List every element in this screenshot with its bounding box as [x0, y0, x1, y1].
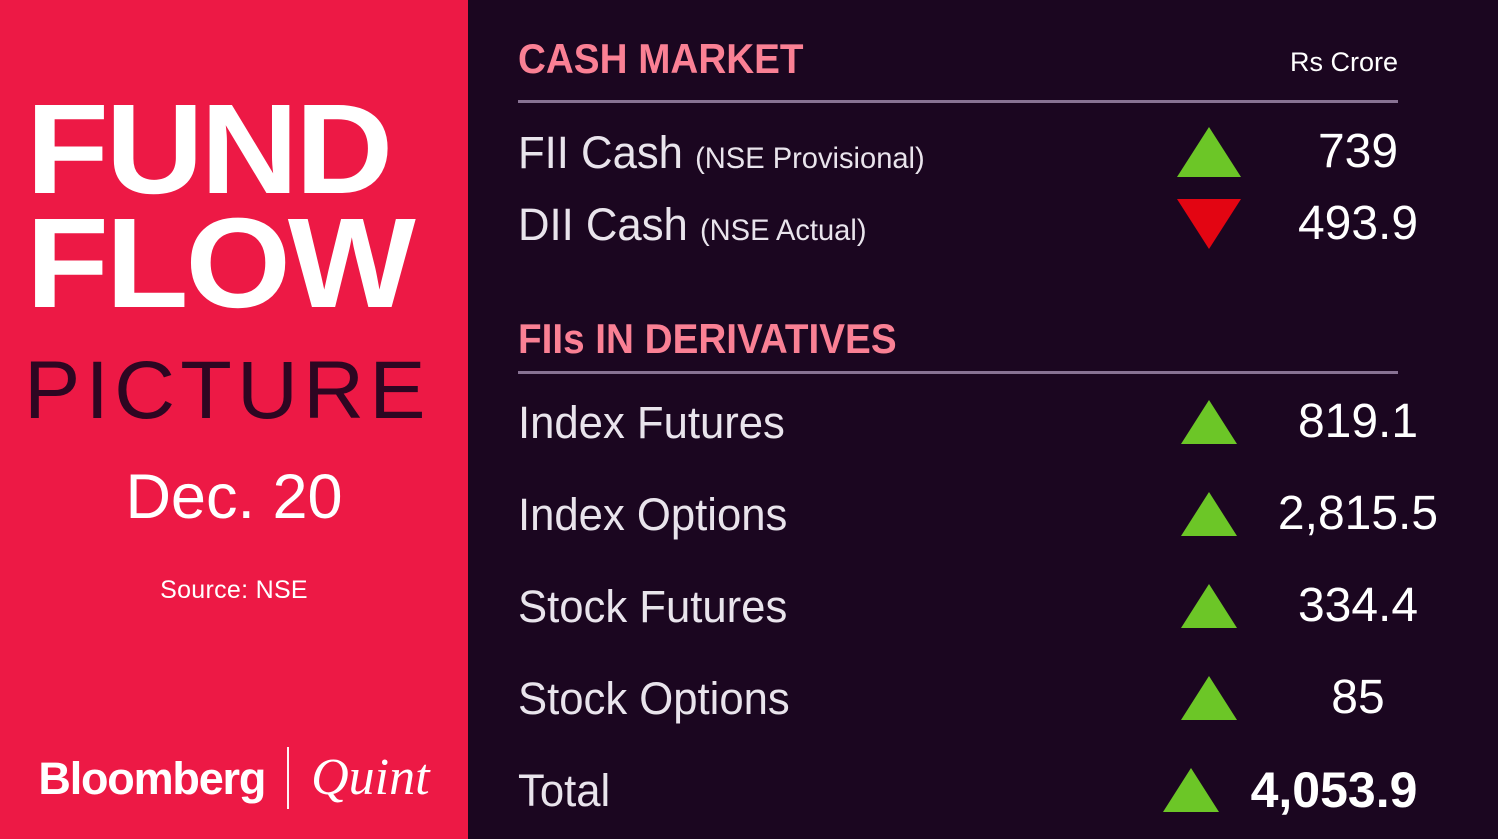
bloombergquint-logo: Bloomberg Quint	[0, 747, 468, 809]
triangle-up-icon	[1163, 768, 1219, 812]
row-label-total: Total	[518, 768, 610, 813]
section-title-derivatives: FIIs IN DERIVATIVES	[518, 318, 897, 360]
row-qualifier-fii-cash: (NSE Provisional)	[695, 142, 925, 175]
unit-label: Rs Crore	[1290, 49, 1398, 80]
row-value-index-futures: 819.1	[1258, 398, 1458, 446]
table-row: Index Futures 819.1	[518, 394, 1398, 450]
direction-cell	[1166, 492, 1252, 536]
section-header-cash-market: CASH MARKET Rs Crore	[518, 38, 1398, 80]
row-label-stock-options: Stock Options	[518, 676, 790, 721]
row-label-stock-futures: Stock Futures	[518, 584, 787, 629]
section-rule-cash-market	[518, 100, 1398, 103]
row-value-stock-options: 85	[1258, 674, 1458, 722]
triangle-down-icon	[1177, 199, 1241, 249]
logo-bloomberg-text: Bloomberg	[38, 756, 265, 801]
table-row: DII Cash (NSE Actual) 493.9	[518, 196, 1398, 252]
direction-cell	[1166, 199, 1252, 249]
table-row: Index Options 2,815.5	[518, 486, 1398, 542]
brand-title-line-3: PICTURE	[24, 350, 431, 432]
section-title-cash-market: CASH MARKET	[518, 38, 804, 80]
brand-panel: FUND FLOW PICTURE Dec. 20 Source: NSE Bl…	[0, 0, 468, 839]
row-value-total: 4,053.9	[1234, 765, 1434, 815]
row-label-index-futures: Index Futures	[518, 400, 785, 445]
triangle-up-icon	[1181, 584, 1237, 628]
fund-flow-infographic: FUND FLOW PICTURE Dec. 20 Source: NSE Bl…	[0, 0, 1498, 839]
row-value-index-options: 2,815.5	[1258, 490, 1458, 538]
data-source-label: Source: NSE	[0, 576, 468, 605]
section-header-derivatives: FIIs IN DERIVATIVES	[518, 318, 1398, 360]
row-qualifier-dii-cash: (NSE Actual)	[700, 214, 867, 247]
brand-title-line-1: FUND	[26, 96, 471, 204]
data-panel: CASH MARKET Rs Crore FII Cash (NSE Provi…	[468, 0, 1498, 839]
table-row: Stock Futures 334.4	[518, 578, 1398, 634]
triangle-up-icon	[1177, 127, 1241, 177]
direction-cell	[1148, 768, 1234, 812]
table-row-total: Total 4,053.9	[518, 762, 1398, 818]
row-value-stock-futures: 334.4	[1258, 582, 1458, 630]
triangle-up-icon	[1181, 492, 1237, 536]
logo-divider	[287, 747, 289, 809]
direction-cell	[1166, 127, 1252, 177]
row-value-dii-cash: 493.9	[1258, 200, 1458, 248]
section-rule-derivatives	[518, 371, 1398, 374]
report-date: Dec. 20	[0, 466, 468, 529]
brand-title-block: FUND FLOW	[26, 96, 446, 317]
row-value-fii-cash: 739	[1258, 128, 1458, 176]
triangle-up-icon	[1181, 676, 1237, 720]
logo-quint-text: Quint	[311, 752, 429, 804]
table-row: FII Cash (NSE Provisional) 739	[518, 124, 1398, 180]
table-row: Stock Options 85	[518, 670, 1398, 726]
brand-title-line-2: FLOW	[26, 210, 471, 318]
direction-cell	[1166, 676, 1252, 720]
row-label-fii-cash: FII Cash (NSE Provisional)	[518, 130, 925, 175]
direction-cell	[1166, 584, 1252, 628]
direction-cell	[1166, 400, 1252, 444]
triangle-up-icon	[1181, 400, 1237, 444]
row-label-index-options: Index Options	[518, 492, 787, 537]
row-label-dii-cash: DII Cash (NSE Actual)	[518, 202, 867, 247]
